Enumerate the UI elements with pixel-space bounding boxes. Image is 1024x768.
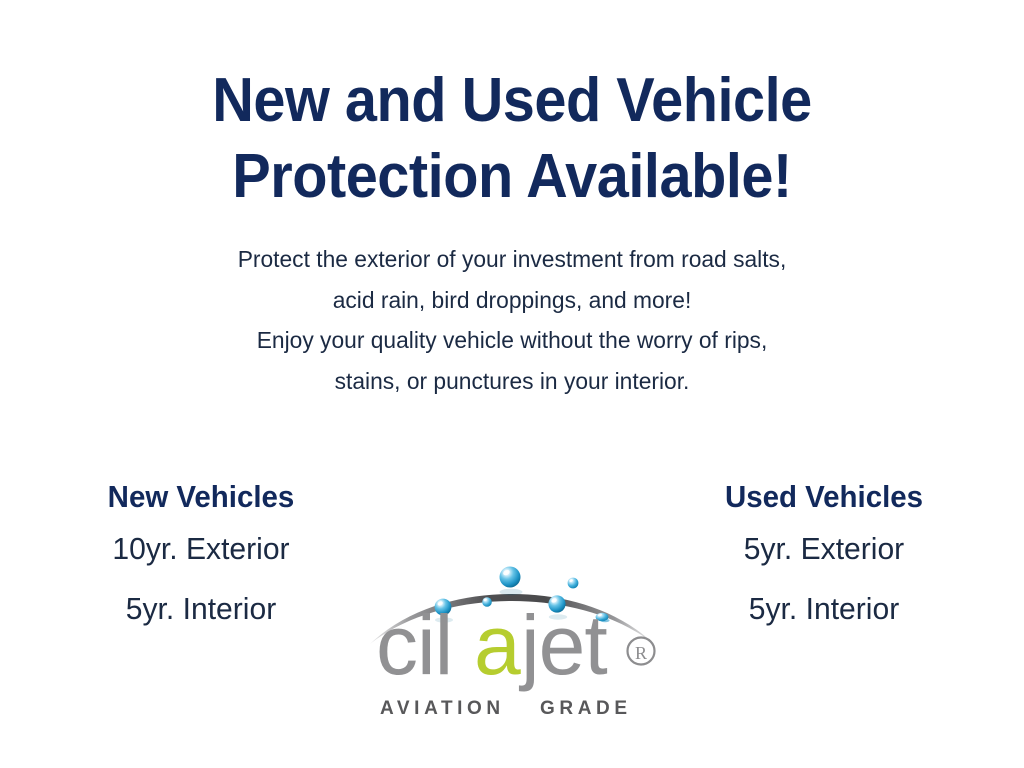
water-bead-icon-4 <box>568 578 579 589</box>
water-bead-icon-1 <box>500 567 523 596</box>
title-line-2: Protection Available! <box>36 139 988 215</box>
body-line-2: acid rain, bird droppings, and more! <box>15 280 1008 321</box>
used-vehicles-column: Used Vehicles 5yr. Exterior 5yr. Interio… <box>644 474 1004 639</box>
body-line-3: Enjoy your quality vehicle without the w… <box>15 320 1008 361</box>
cilajet-wordmark: cil a jet R <box>376 598 655 692</box>
wordmark-text-a-accent: a <box>474 598 521 692</box>
used-vehicles-heading: Used Vehicles <box>653 474 995 519</box>
cilajet-logo: cil a jet R AVIATION GRADE <box>366 556 658 734</box>
body-line-1: Protect the exterior of your investment … <box>15 239 1008 280</box>
tagline-aviation: AVIATION <box>380 698 505 719</box>
tagline-grade: GRADE <box>540 698 632 719</box>
new-vehicles-column: New Vehicles 10yr. Exterior 5yr. Interio… <box>21 474 381 639</box>
page-title: New and Used Vehicle Protection Availabl… <box>0 63 1024 215</box>
wordmark-text-cil: cil <box>376 598 452 692</box>
new-vehicles-heading: New Vehicles <box>30 474 372 519</box>
body-paragraph: Protect the exterior of your investment … <box>0 239 1024 401</box>
cilajet-logo-graphic: cil a jet R AVIATION GRADE <box>366 556 658 734</box>
registered-trademark-letter: R <box>635 643 647 663</box>
used-vehicles-interior-term: 5yr. Interior <box>649 579 998 639</box>
wordmark-text-jet: jet <box>518 598 607 692</box>
logo-tagline: AVIATION GRADE <box>380 698 632 719</box>
body-line-4: stains, or punctures in your interior. <box>15 361 1008 402</box>
new-vehicles-interior-term: 5yr. Interior <box>26 579 375 639</box>
used-vehicles-exterior-term: 5yr. Exterior <box>649 519 998 579</box>
title-line-1: New and Used Vehicle <box>36 63 988 139</box>
new-vehicles-exterior-term: 10yr. Exterior <box>26 519 375 579</box>
slide-canvas: New and Used Vehicle Protection Availabl… <box>0 0 1024 768</box>
registered-trademark-icon: R <box>628 638 655 665</box>
